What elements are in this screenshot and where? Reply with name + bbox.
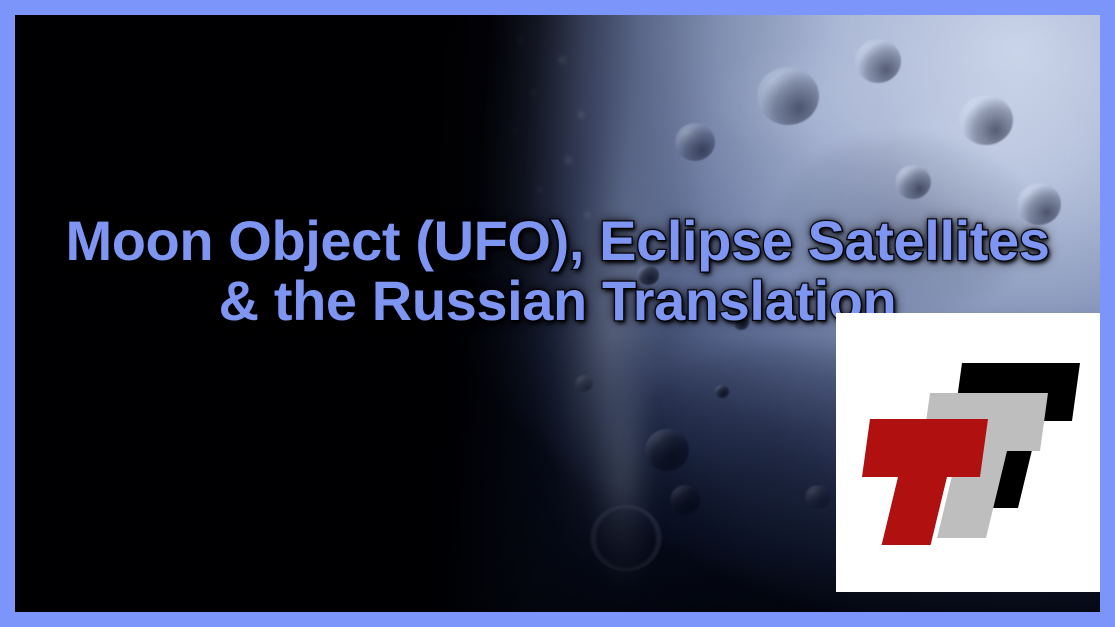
logo-panel xyxy=(836,313,1100,592)
video-frame: Moon Object (UFO), Eclipse Satellites & … xyxy=(15,15,1100,612)
ttt-logo xyxy=(858,355,1086,545)
video-thumbnail: Moon Object (UFO), Eclipse Satellites & … xyxy=(0,0,1115,627)
